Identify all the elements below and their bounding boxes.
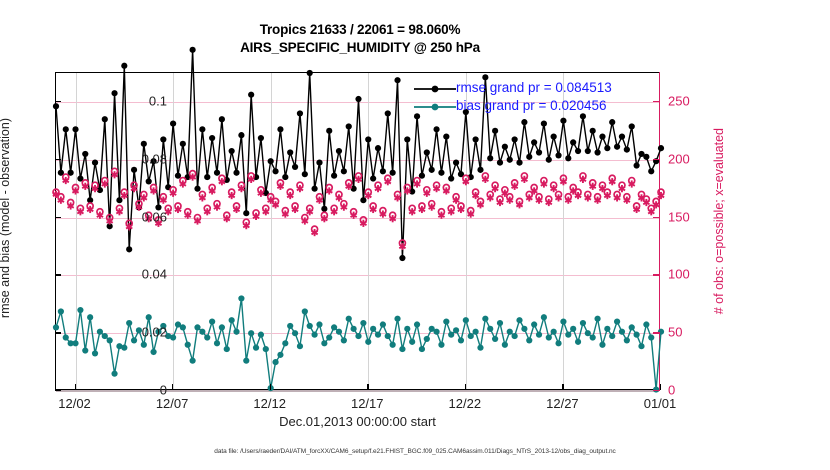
data-point [272,168,278,174]
data-point [648,334,654,340]
y-tick-mark [55,274,61,275]
data-point [560,319,566,325]
data-point [638,343,644,349]
data-point [463,317,469,323]
x-tick-label: 12/07 [156,396,189,411]
data-point [473,329,479,335]
data-point [292,330,298,336]
data-point [336,329,342,335]
data-point [102,333,108,339]
data-point [448,332,454,338]
data-point [82,347,88,353]
data-point [394,316,400,322]
y-tick-mark [55,101,61,102]
data-point [190,47,196,53]
data-point [141,141,147,147]
data-point [287,149,293,155]
data-point [351,326,357,332]
data-point [243,210,249,216]
data-point [170,120,176,126]
x-axis-label: Dec.01,2013 00:00:00 start [55,414,660,429]
legend-sample-rmse [412,82,458,96]
data-point [292,164,298,170]
data-point [97,329,103,335]
data-point [443,319,449,325]
data-point [385,110,391,116]
data-point [468,333,474,339]
x-tick-mark [172,384,173,390]
data-point [146,178,152,184]
data-point [341,168,347,174]
y-tick-label: 0.04 [142,267,167,282]
legend-sample-bias [412,100,458,114]
data-point [302,308,308,314]
data-point [63,126,69,132]
y-tick-label: 0.1 [149,93,167,108]
chart-title-line1: Tropics 21633 / 22061 = 98.060% [0,22,720,37]
data-point [121,63,127,69]
right-tick-label: 150 [668,209,690,224]
right-tick-label: 200 [668,151,690,166]
x-tick-mark [660,384,661,390]
data-point [580,113,586,119]
data-point [555,340,561,346]
data-point [87,314,93,320]
data-point [399,346,405,352]
data-point [429,167,435,173]
data-point [585,330,591,336]
data-point [204,334,210,340]
data-point [619,329,625,335]
data-point [404,136,410,142]
data-point [326,334,332,340]
data-point [385,333,391,339]
data-point [326,128,332,134]
x-tick-mark [367,384,368,390]
data-point [433,329,439,335]
data-point [521,326,527,332]
data-point [482,316,488,322]
right-tick-mark [653,274,660,275]
right-y-axis-label: # of obs: o=possible; x=evaluated [712,128,726,314]
data-point [414,113,420,119]
data-point [585,148,591,154]
data-point [516,160,522,166]
data-point [370,326,376,332]
data-point [399,255,405,261]
data-point [58,308,64,314]
data-point [365,339,371,345]
data-point [229,148,235,154]
data-point [390,170,396,176]
legend-label-bias: bias grand pr = 0.020456 [456,98,607,113]
data-point [82,151,88,157]
data-point [316,321,322,327]
data-point [614,319,620,325]
data-point [224,346,230,352]
right-tick-mark [653,390,660,391]
right-tick-mark [653,217,660,218]
data-point [263,346,269,352]
x-tick-mark [270,384,271,390]
data-point [541,314,547,320]
data-point [507,329,513,335]
data-point [370,175,376,181]
data-point [614,144,620,150]
data-point [199,329,205,335]
data-point [331,173,337,179]
data-series-layer [56,73,661,391]
data-point [575,339,581,345]
data-point [555,152,561,158]
data-point [253,345,259,351]
plot-area [55,72,660,390]
chart-page: Tropics 21633 / 22061 = 98.060% AIRS_SPE… [0,0,830,470]
data-point [311,186,317,192]
data-point [624,147,630,153]
data-point [111,371,117,377]
y-tick-mark [55,159,61,160]
data-point [72,126,78,132]
data-point [487,155,493,161]
data-point [604,145,610,151]
data-point [526,154,532,160]
data-point [190,358,196,364]
data-point [492,128,498,134]
data-point [394,77,400,83]
data-point [243,358,249,364]
data-point [341,337,347,343]
data-point [458,337,464,343]
data-point [419,173,425,179]
data-point [375,145,381,151]
data-point [287,323,293,329]
data-point [194,324,200,330]
data-point [258,332,264,338]
y-tick-mark [55,217,61,218]
data-point [63,334,69,340]
data-point [531,321,537,327]
right-tick-label: 50 [668,325,682,340]
data-point [619,134,625,140]
data-point [233,170,239,176]
data-point [360,320,366,326]
data-point [477,167,483,173]
data-point [487,326,493,332]
data-point [453,160,459,166]
data-point [282,174,288,180]
data-point [590,128,596,134]
data-point [302,171,308,177]
data-point [409,339,415,345]
data-point [92,350,98,356]
data-point [380,168,386,174]
data-point [443,134,449,140]
data-point [209,319,215,325]
x-tick-label: 12/27 [546,396,579,411]
data-point [131,167,137,173]
data-point [438,170,444,176]
x-tick-label: 12/12 [253,396,286,411]
data-point [448,175,454,181]
data-point [214,170,220,176]
data-point [375,332,381,338]
data-point [551,134,557,140]
x-tick-label: 12/02 [58,396,91,411]
data-point [599,342,605,348]
data-file-footer: data file: /Users/raeder/DAI/ATM_forcXX/… [0,448,830,455]
data-point [536,332,542,338]
data-point [72,340,78,346]
data-point [594,149,600,155]
data-point [507,157,513,163]
data-point [233,329,239,335]
data-point [453,327,459,333]
data-point [365,136,371,142]
right-tick-mark [653,101,660,102]
y-tick-mark [55,332,61,333]
data-point [565,332,571,338]
data-point [199,126,205,132]
data-point [238,295,244,301]
y-tick-mark [55,390,61,391]
data-point [102,116,108,122]
data-point [502,342,508,348]
y-axis-label: rmse and bias (model - observation) [0,118,16,318]
data-point [297,110,303,116]
data-point [204,174,210,180]
data-point [185,342,191,348]
data-point [414,321,420,327]
data-point [209,135,215,141]
data-point [160,136,166,142]
x-tick-mark [562,384,563,390]
data-point [521,119,527,125]
data-point [546,334,552,340]
data-point [277,352,283,358]
data-point [126,246,132,252]
chart-title-line2: AIRS_SPECIFIC_HUMIDITY @ 250 hPa [0,40,720,55]
data-point [570,326,576,332]
data-point [380,321,386,327]
x-tick-mark [75,384,76,390]
data-point [594,316,600,322]
data-point [526,337,532,343]
data-point [502,144,508,150]
y-tick-label: 0.02 [142,325,167,340]
data-point [111,90,117,96]
data-point [131,337,137,343]
data-point [238,132,244,138]
data-point [194,186,200,192]
data-point [321,340,327,346]
data-point [219,116,225,122]
data-point [477,345,483,351]
data-point [346,123,352,129]
data-point [316,160,322,166]
data-point [307,70,313,76]
x-tick-mark [465,384,466,390]
x-tick-label: 12/17 [351,396,384,411]
data-point [219,324,225,330]
data-point [424,336,430,342]
data-point [599,134,605,140]
legend-label-rmse: rmse grand pr = 0.084513 [456,80,612,95]
data-point [92,160,98,166]
data-point [438,342,444,348]
data-point [248,330,254,336]
data-point [433,126,439,132]
data-point [268,158,274,164]
data-point [277,126,283,132]
legend-marker [432,104,439,111]
data-point [473,136,479,142]
data-point [565,155,571,161]
data-point [307,323,313,329]
data-point [531,139,537,145]
data-point [126,320,132,326]
data-point [180,324,186,330]
data-point [551,329,557,335]
data-point [53,103,59,109]
data-point [53,324,59,330]
data-point [214,340,220,346]
right-tick-mark [653,332,660,333]
data-point [272,359,278,365]
y-tick-label: 0.06 [142,209,167,224]
data-point [512,136,518,142]
data-point [546,157,552,163]
data-point [516,317,522,323]
series-filled-circle [53,295,664,392]
data-point [170,334,176,340]
data-point [419,346,425,352]
data-point [150,349,156,355]
data-point [282,340,288,346]
x-tick-label: 12/22 [449,396,482,411]
data-point [355,96,361,102]
data-point [634,162,640,168]
data-point [648,168,654,174]
legend-marker [432,86,439,93]
data-point [331,324,337,330]
data-point [604,326,610,332]
data-point [141,342,147,348]
right-tick-mark [653,159,660,160]
data-point [424,149,430,155]
right-tick-label: 250 [668,93,690,108]
data-point [590,334,596,340]
data-point [248,92,254,98]
data-point [404,326,410,332]
x-tick-label: 01/01 [644,396,677,411]
data-point [658,145,664,151]
data-point [536,149,542,155]
data-point [390,342,396,348]
data-point [512,333,518,339]
data-point [492,336,498,342]
data-point [570,139,576,145]
data-point [146,314,152,320]
data-point [77,307,83,313]
data-point [643,321,649,327]
data-point [355,333,361,339]
data-point [609,333,615,339]
data-point [107,337,113,343]
data-point [346,316,352,322]
data-point [629,324,635,330]
data-point [575,148,581,154]
data-point [336,148,342,154]
data-point [643,154,649,160]
data-point [258,135,264,141]
data-point [180,141,186,147]
data-point [541,120,547,126]
data-point [629,123,635,129]
data-point [634,332,640,338]
y-tick-label: 0.08 [142,151,167,166]
data-point [321,206,327,212]
data-point [311,332,317,338]
data-point [297,343,303,349]
data-point [580,320,586,326]
data-point [609,119,615,125]
right-tick-label: 100 [668,267,690,282]
data-point [229,317,235,323]
data-point [497,320,503,326]
data-point [497,160,503,166]
data-point [121,345,127,351]
data-point [624,337,630,343]
data-point [560,118,566,124]
